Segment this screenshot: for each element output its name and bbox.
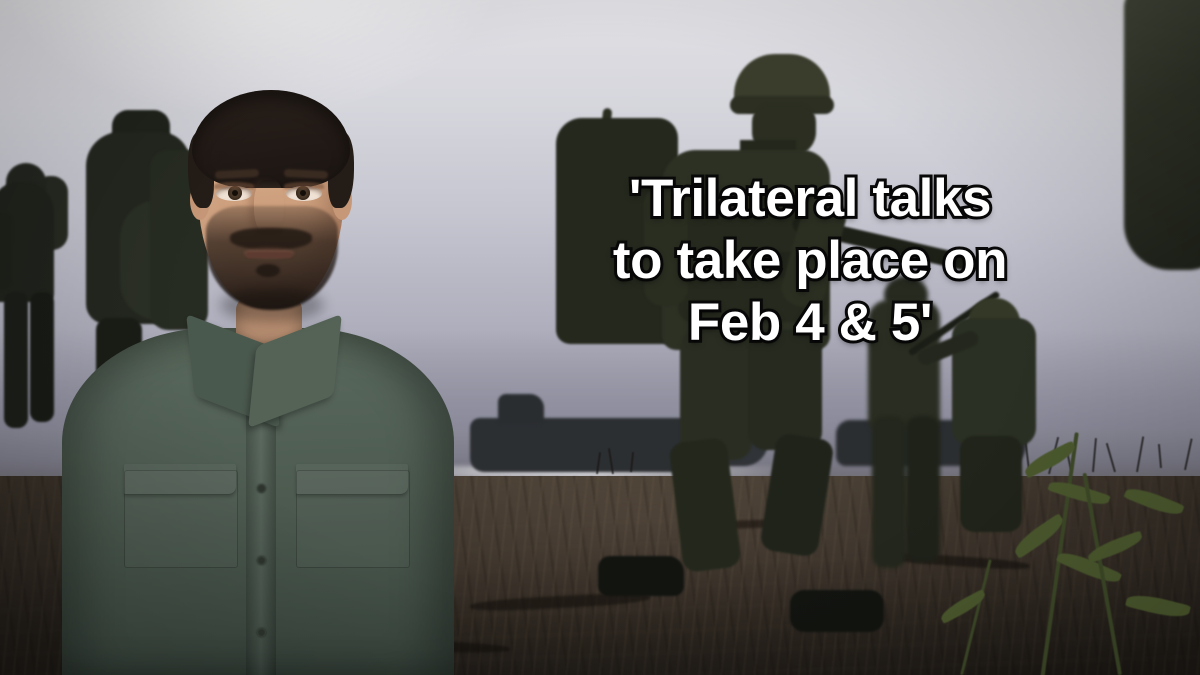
portrait-mouth: [246, 252, 292, 258]
soldier-center-boot: [598, 556, 684, 596]
portrait-shirt-button: [257, 556, 266, 565]
portrait-chin-shadow: [220, 288, 324, 322]
soldier-far-left-leg: [4, 292, 28, 428]
portrait-shirt-button: [257, 484, 266, 493]
portrait-pupil: [232, 190, 238, 196]
portrait-pupil: [300, 190, 306, 196]
soldier-mid-right-leg: [906, 416, 940, 562]
soldier-mid-right-leg: [872, 416, 906, 568]
portrait-shirt-pocket-flap: [124, 464, 236, 495]
headline-line-3: Feb 4 & 5': [530, 292, 1090, 354]
headline-text: 'Trilateral talks to take place on Feb 4…: [530, 168, 1090, 354]
soldier-center-boot: [790, 590, 884, 632]
foreground-portrait: [40, 60, 460, 675]
landing-craft-mast: [498, 394, 544, 424]
soldier-far-left-arm: [0, 212, 12, 290]
headline-line-1: 'Trilateral talks: [530, 168, 1090, 230]
portrait-shirt-pocket-flap: [296, 464, 408, 495]
portrait-mustache: [230, 228, 312, 250]
thumbnail-canvas: 'Trilateral talks to take place on Feb 4…: [0, 0, 1200, 675]
portrait-shirt-button: [257, 628, 266, 637]
portrait-eyelid: [214, 182, 254, 189]
portrait-eyelid: [284, 182, 324, 189]
equipment-pack-top-right: [1124, 0, 1200, 270]
soldier-far-right-leg: [960, 436, 1022, 532]
headline-line-2: to take place on: [530, 230, 1090, 292]
portrait-soul-patch: [256, 264, 280, 277]
